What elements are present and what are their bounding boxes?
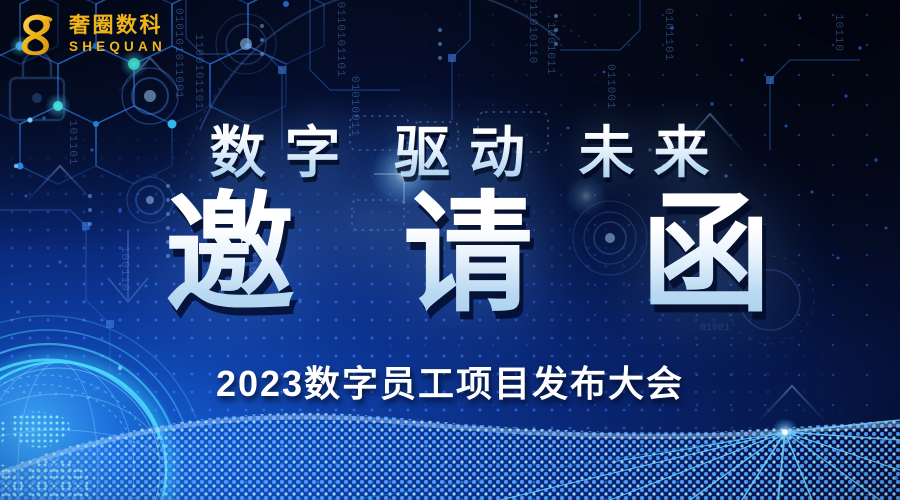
invitation-poster: 010101011001 1100101101 101101 011010110… (0, 0, 900, 500)
svg-text:10110101101: 10110101101 (334, 0, 346, 78)
svg-text:010101011001: 010101011001 (172, 8, 184, 99)
svg-text:011010110: 011010110 (526, 0, 538, 64)
svg-text:10110: 10110 (832, 14, 844, 52)
brand-name-en: SHEQUAN (69, 40, 166, 54)
brand-wordmark: 奢圈数科 SHEQUAN (69, 15, 166, 54)
headline: 邀 请 函 (0, 186, 900, 323)
brand-name-cn: 奢圈数科 (69, 15, 166, 36)
tagline-text: 数字 驱动 未来 (190, 108, 728, 189)
svg-text:0101101: 0101101 (662, 8, 674, 61)
svg-text:1001011: 1001011 (544, 22, 556, 75)
headline-text: 邀 请 函 (129, 186, 807, 323)
svg-text:1100101101: 1100101101 (192, 34, 204, 110)
converging-light-rays-icon (352, 420, 900, 500)
tagline: 数字 驱动 未来 (0, 108, 900, 189)
event-subtitle: 2023数字员工项目发布大会 (0, 355, 900, 407)
shequan-ribbon-emblem-icon (14, 11, 60, 57)
svg-text:011001: 011001 (604, 64, 616, 110)
brand-logo[interactable]: 奢圈数科 SHEQUAN (14, 11, 166, 57)
